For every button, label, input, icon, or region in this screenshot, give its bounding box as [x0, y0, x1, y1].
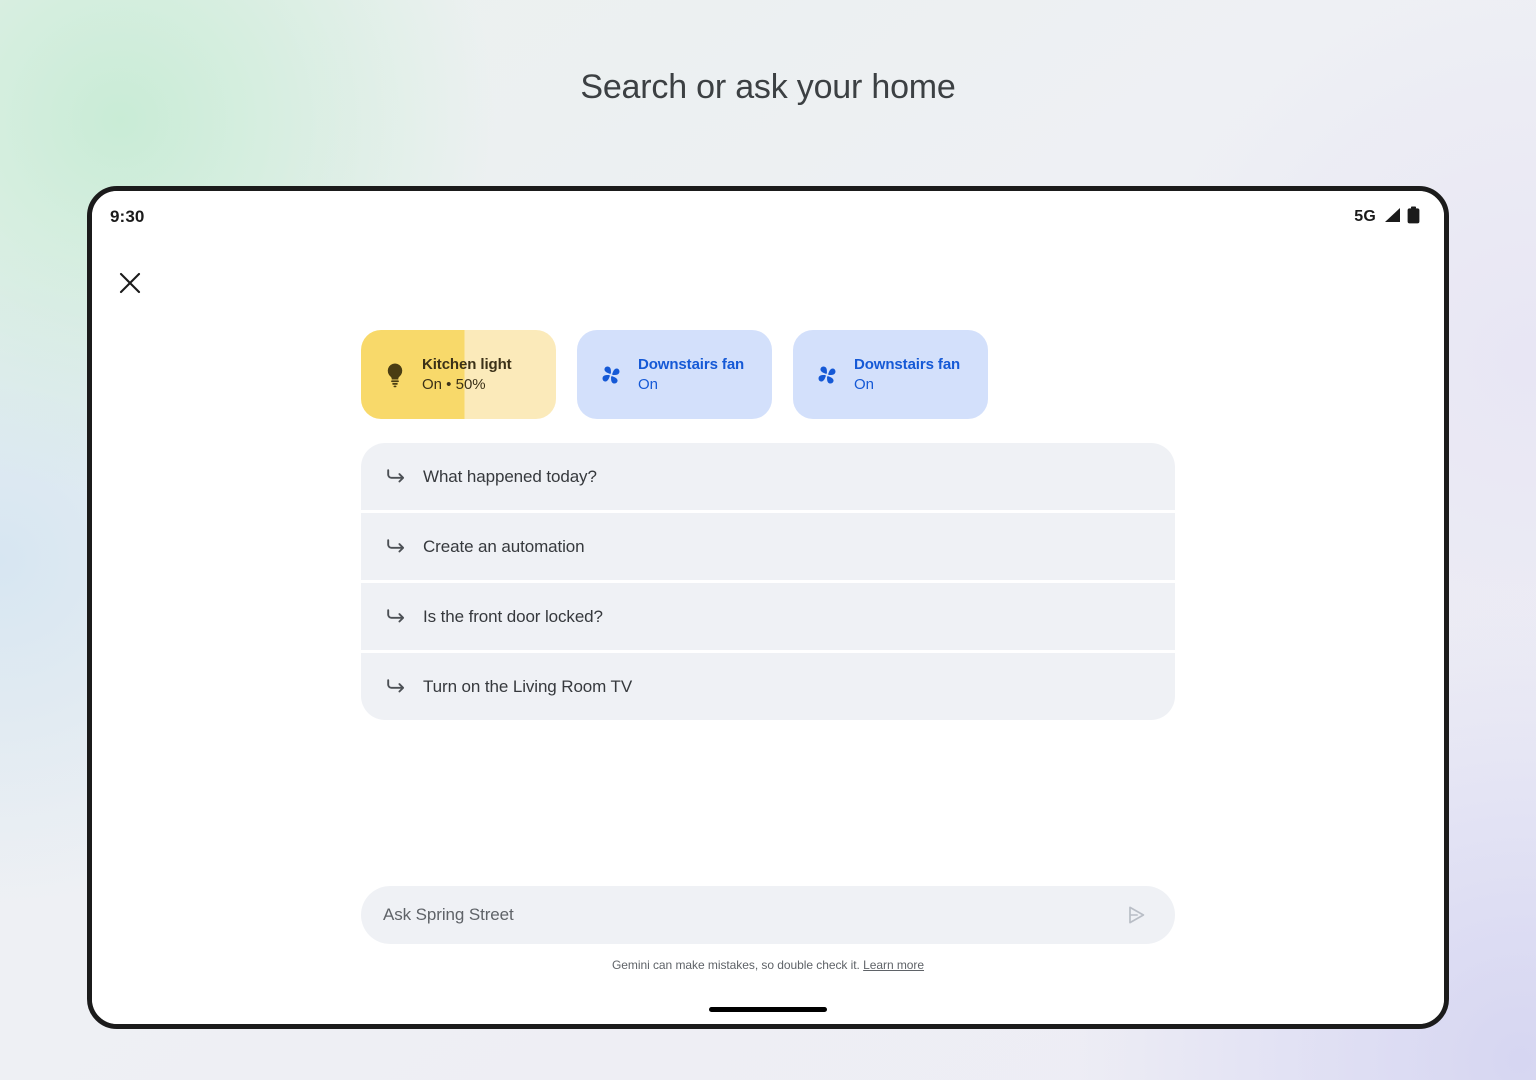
tablet-device-frame: 9:30 5G [87, 186, 1449, 1029]
fan-icon [814, 362, 840, 388]
status-time: 9:30 [110, 207, 144, 227]
suggestion-label: Turn on the Living Room TV [423, 677, 632, 697]
search-input[interactable] [383, 905, 1111, 925]
suggestion-item-is-the-front-door-locked[interactable]: Is the front door locked? [361, 583, 1175, 650]
chip-title: Downstairs fan [638, 356, 744, 373]
chip-subtitle: On • 50% [422, 376, 512, 393]
signal-bars-icon [1382, 207, 1401, 228]
chip-text-group: Downstairs fan On [854, 356, 960, 394]
suggestion-label: Is the front door locked? [423, 607, 603, 627]
device-chip-downstairs-fan-2[interactable]: Downstairs fan On [793, 330, 988, 419]
chip-subtitle: On [854, 376, 960, 393]
main-content: Kitchen light On • 50% [361, 330, 1175, 720]
device-chip-downstairs-fan-1[interactable]: Downstairs fan On [577, 330, 772, 419]
device-chips-row: Kitchen light On • 50% [361, 330, 1175, 419]
battery-full-icon [1407, 206, 1420, 229]
send-triangle-icon [1125, 904, 1147, 926]
suggestion-list: What happened today? Create an automatio… [361, 443, 1175, 720]
close-icon [119, 272, 141, 294]
close-button[interactable] [110, 263, 150, 303]
composer-bar[interactable] [361, 886, 1175, 944]
chip-title: Downstairs fan [854, 356, 960, 373]
chip-text-group: Downstairs fan On [638, 356, 744, 394]
suggestion-label: Create an automation [423, 537, 585, 557]
status-bar: 9:30 5G [92, 191, 1444, 243]
lightbulb-icon [382, 362, 408, 388]
suggestion-item-what-happened-today[interactable]: What happened today? [361, 443, 1175, 510]
composer-area: Gemini can make mistakes, so double chec… [361, 886, 1175, 972]
suggestion-item-turn-on-the-living-room-tv[interactable]: Turn on the Living Room TV [361, 653, 1175, 720]
suggestion-label: What happened today? [423, 467, 597, 487]
disclaimer-text: Gemini can make mistakes, so double chec… [361, 958, 1175, 972]
gesture-navigation-handle[interactable] [709, 1007, 827, 1012]
learn-more-link[interactable]: Learn more [863, 958, 924, 972]
fan-icon [598, 362, 624, 388]
turn-right-arrow-icon [383, 466, 407, 487]
network-type-label: 5G [1354, 208, 1376, 226]
chip-subtitle: On [638, 376, 744, 393]
send-button[interactable] [1121, 900, 1151, 930]
turn-right-arrow-icon [383, 676, 407, 697]
chip-text-group: Kitchen light On • 50% [422, 356, 512, 394]
turn-right-arrow-icon [383, 606, 407, 627]
disclaimer-message: Gemini can make mistakes, so double chec… [612, 958, 860, 972]
turn-right-arrow-icon [383, 536, 407, 557]
device-screen: 9:30 5G [92, 191, 1444, 1024]
chip-title: Kitchen light [422, 356, 512, 373]
page-title: Search or ask your home [0, 68, 1536, 107]
suggestion-item-create-an-automation[interactable]: Create an automation [361, 513, 1175, 580]
status-indicators: 5G [1354, 206, 1420, 229]
device-chip-kitchen-light[interactable]: Kitchen light On • 50% [361, 330, 556, 419]
